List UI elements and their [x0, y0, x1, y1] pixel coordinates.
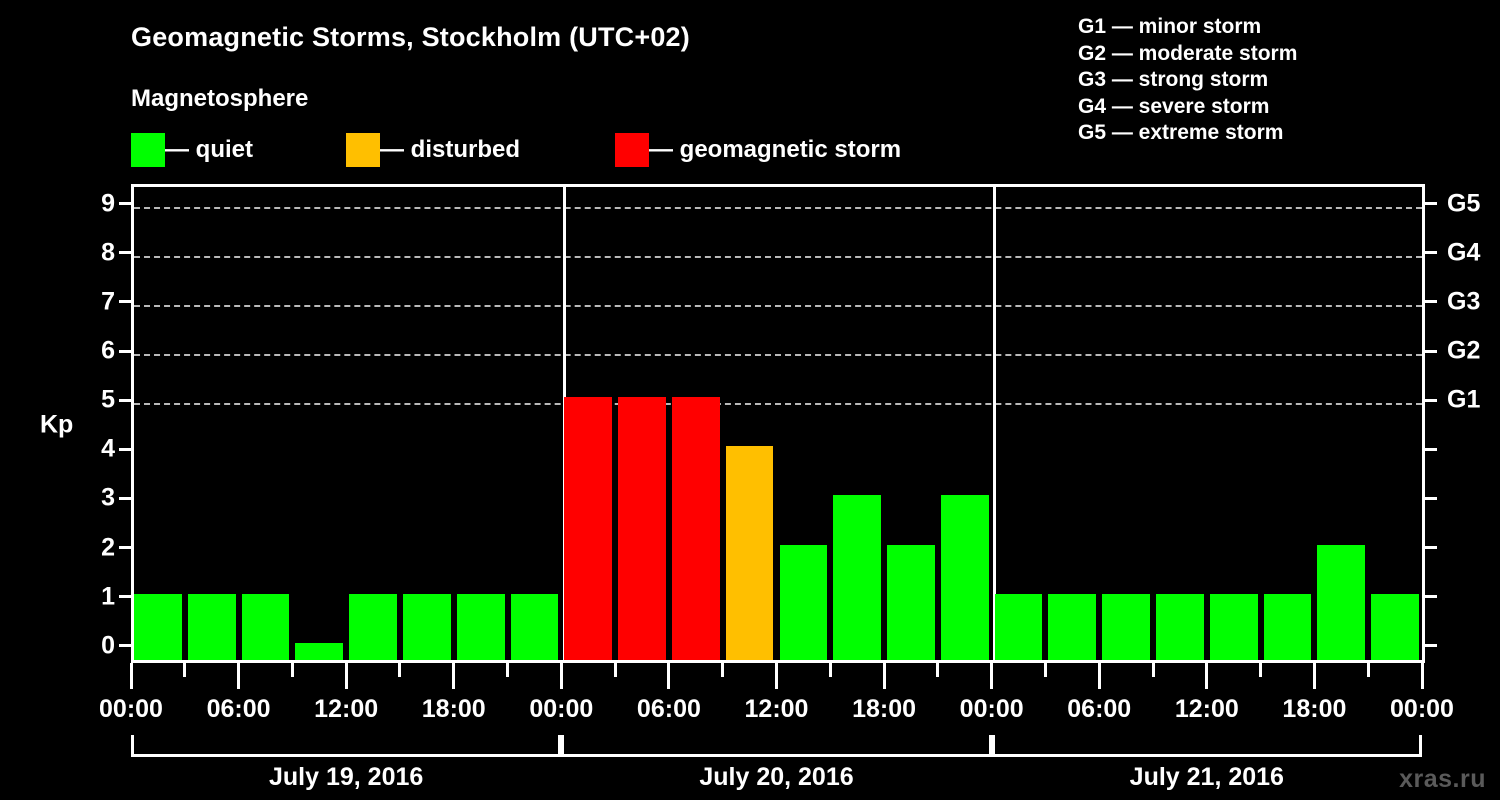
bar: [1102, 594, 1150, 660]
x-tick-mark-15: [936, 663, 939, 677]
bar: [564, 397, 612, 660]
g-scale-row-g2: G2 — moderate storm: [1078, 41, 1297, 68]
y-tick-label-2: 2: [75, 533, 115, 562]
y-tick-label-0: 0: [75, 631, 115, 660]
x-tick-mark-21: [1259, 663, 1262, 677]
g-tick-mark-g5: [1425, 202, 1437, 205]
x-tick-mark-10: [667, 663, 670, 689]
x-tick-label-12: 00:00: [1390, 695, 1454, 724]
y-tick-label-8: 8: [75, 238, 115, 267]
x-tick-mark-20: [1205, 663, 1208, 689]
x-tick-mark-13: [829, 663, 832, 677]
g-scale-row-g4: G4 — severe storm: [1078, 94, 1297, 121]
y-tick-label-4: 4: [75, 435, 115, 464]
x-tick-mark-7: [506, 663, 509, 677]
g-tick-mark-minor-1: [1425, 595, 1437, 598]
x-tick-mark-5: [398, 663, 401, 677]
bar: [618, 397, 666, 660]
g-tick-mark-minor-3: [1425, 497, 1437, 500]
x-tick-mark-22: [1313, 663, 1316, 689]
watermark: xras.ru: [1399, 765, 1486, 794]
bar: [134, 594, 182, 660]
y-axis-label: Kp: [40, 410, 73, 439]
g-scale-row-g1: G1 — minor storm: [1078, 14, 1297, 41]
legend-swatch-quiet: [131, 133, 165, 167]
bar: [833, 495, 881, 660]
bar: [1264, 594, 1312, 660]
bar: [1210, 594, 1258, 660]
bar: [780, 545, 828, 660]
g-scale-row-g5: G5 — extreme storm: [1078, 120, 1297, 147]
g-tick-label-g1: G1: [1447, 386, 1480, 415]
x-tick-label-7: 18:00: [852, 695, 916, 724]
bar: [188, 594, 236, 660]
bar: [511, 594, 559, 660]
legend-label-disturbed: — disturbed: [380, 133, 520, 167]
plot-area: [131, 184, 1425, 663]
bar: [1156, 594, 1204, 660]
x-tick-label-0: 00:00: [99, 695, 163, 724]
day-bracket-1: [561, 735, 991, 757]
bar: [349, 594, 397, 660]
g-tick-label-g5: G5: [1447, 189, 1480, 218]
x-tick-label-10: 12:00: [1175, 695, 1239, 724]
x-tick-mark-11: [721, 663, 724, 677]
g-tick-label-g3: G3: [1447, 287, 1480, 316]
chart-root: Geomagnetic Storms, Stockholm (UTC+02) M…: [0, 0, 1500, 800]
bar: [457, 594, 505, 660]
day-bracket-0: [131, 735, 561, 757]
x-tick-label-8: 00:00: [960, 695, 1024, 724]
legend-swatch-disturbed: [346, 133, 380, 167]
legend-label-geomagnetic-storm: — geomagnetic storm: [649, 133, 901, 167]
bar: [672, 397, 720, 660]
g-tick-mark-minor-0: [1425, 644, 1437, 647]
day-bracket-2: [992, 735, 1422, 757]
y-tick-label-3: 3: [75, 484, 115, 513]
legend-item-geomagnetic-storm: — geomagnetic storm: [615, 133, 901, 167]
bar: [295, 643, 343, 660]
y-tick-mark-4: [119, 448, 131, 451]
g-tick-mark-g3: [1425, 300, 1437, 303]
x-tick-mark-23: [1367, 663, 1370, 677]
y-tick-mark-3: [119, 497, 131, 500]
y-tick-mark-5: [119, 399, 131, 402]
x-tick-label-4: 00:00: [529, 695, 593, 724]
g-tick-mark-minor-4: [1425, 448, 1437, 451]
y-tick-label-5: 5: [75, 386, 115, 415]
x-tick-mark-16: [990, 663, 993, 689]
bar-series: [134, 187, 1422, 660]
y-tick-mark-1: [119, 595, 131, 598]
x-tick-label-1: 06:00: [207, 695, 271, 724]
bar: [887, 545, 935, 660]
chart-subtitle: Magnetosphere: [131, 85, 308, 113]
x-tick-mark-0: [130, 663, 133, 689]
x-tick-label-6: 12:00: [745, 695, 809, 724]
g-tick-mark-g2: [1425, 350, 1437, 353]
y-tick-label-1: 1: [75, 582, 115, 611]
y-tick-label-6: 6: [75, 337, 115, 366]
y-tick-label-9: 9: [75, 189, 115, 218]
bar: [995, 594, 1043, 660]
legend-label-quiet: — quiet: [165, 133, 253, 167]
x-tick-mark-6: [452, 663, 455, 689]
legend-item-quiet: — quiet: [131, 133, 253, 167]
bar: [242, 594, 290, 660]
y-tick-mark-7: [119, 300, 131, 303]
x-tick-label-2: 12:00: [314, 695, 378, 724]
x-tick-mark-19: [1152, 663, 1155, 677]
bar: [1317, 545, 1365, 660]
x-tick-label-5: 06:00: [637, 695, 701, 724]
bar: [726, 446, 774, 660]
x-tick-label-11: 18:00: [1282, 695, 1346, 724]
y-tick-label-7: 7: [75, 287, 115, 316]
bar: [1371, 594, 1419, 660]
g-tick-mark-g1: [1425, 399, 1437, 402]
day-label-0: July 19, 2016: [269, 763, 423, 792]
y-tick-mark-0: [119, 644, 131, 647]
x-tick-mark-9: [614, 663, 617, 677]
legend-swatch-geomagnetic-storm: [615, 133, 649, 167]
y-tick-mark-9: [119, 202, 131, 205]
x-tick-mark-8: [560, 663, 563, 689]
x-tick-label-9: 06:00: [1067, 695, 1131, 724]
y-tick-mark-8: [119, 251, 131, 254]
y-tick-mark-6: [119, 350, 131, 353]
x-tick-mark-3: [291, 663, 294, 677]
g-scale-legend: G1 — minor stormG2 — moderate stormG3 — …: [1078, 14, 1297, 147]
x-tick-mark-2: [237, 663, 240, 689]
x-tick-mark-4: [345, 663, 348, 689]
day-label-2: July 21, 2016: [1130, 763, 1284, 792]
bar: [403, 594, 451, 660]
bar: [1048, 594, 1096, 660]
g-tick-mark-minor-2: [1425, 546, 1437, 549]
chart-title: Geomagnetic Storms, Stockholm (UTC+02): [131, 22, 690, 53]
legend-item-disturbed: — disturbed: [346, 133, 520, 167]
x-tick-label-3: 18:00: [422, 695, 486, 724]
x-tick-mark-12: [775, 663, 778, 689]
g-tick-mark-g4: [1425, 251, 1437, 254]
day-label-1: July 20, 2016: [699, 763, 853, 792]
g-tick-label-g4: G4: [1447, 238, 1480, 267]
x-tick-mark-14: [883, 663, 886, 689]
y-tick-mark-2: [119, 546, 131, 549]
x-tick-mark-18: [1098, 663, 1101, 689]
x-tick-mark-1: [183, 663, 186, 677]
bar: [941, 495, 989, 660]
x-tick-mark-24: [1421, 663, 1424, 689]
g-tick-label-g2: G2: [1447, 337, 1480, 366]
x-tick-mark-17: [1044, 663, 1047, 677]
g-scale-row-g3: G3 — strong storm: [1078, 67, 1297, 94]
